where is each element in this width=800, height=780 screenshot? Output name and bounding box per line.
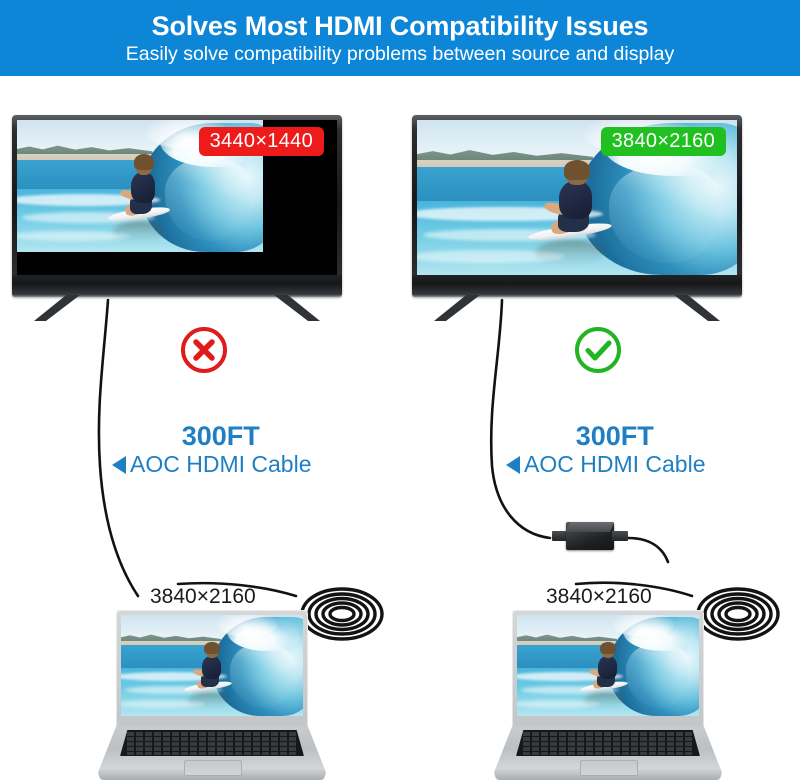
tv-resolution-badge-compatible: 3840×2160 (601, 127, 726, 156)
adapter-plug-output (612, 531, 628, 541)
laptop-surf-image (121, 615, 303, 716)
header-banner: Solves Most HDMI Compatibility Issues Ea… (0, 0, 800, 76)
comparison-panel-with-adapter: 3840×2160 300FT AOC HDMI Cable (400, 76, 800, 780)
cable-callout-right: 300FT AOC HDMI Cable (506, 422, 705, 478)
cable-path-adapter-out (628, 538, 668, 562)
cable-name-label: AOC HDMI Cable (130, 451, 311, 477)
tv-chin-bar (12, 275, 342, 297)
laptop-resolution-caption: 3840×2160 (150, 585, 256, 609)
surfer-figure (590, 642, 626, 698)
triangle-left-icon (112, 456, 126, 474)
cable-length-label: 300FT (506, 422, 705, 450)
laptop-keyboard (120, 730, 304, 756)
tv-leg-right (274, 295, 320, 321)
laptop-source-left (98, 610, 326, 780)
surfer-figure (120, 154, 167, 228)
surfer-figure (545, 160, 609, 248)
laptop-trackpad (580, 760, 638, 776)
cross-circle-icon (178, 324, 230, 376)
cable-name-row: AOC HDMI Cable (112, 451, 311, 477)
status-check-circle (572, 324, 624, 376)
tv-leg-right (674, 295, 720, 321)
laptop-lid (512, 610, 704, 728)
tv-with-adapter: 3840×2160 (412, 115, 742, 305)
status-cross-circle (178, 324, 230, 376)
cable-path-tv-right (491, 300, 550, 538)
tv-leg-left (34, 295, 80, 321)
hdmi-edid-adapter (552, 520, 628, 554)
laptop-source-right (494, 610, 722, 780)
laptop-resolution-caption: 3840×2160 (546, 585, 652, 609)
cable-name-label: AOC HDMI Cable (524, 451, 705, 477)
tv-resolution-badge-incompatible: 3440×1440 (199, 127, 324, 156)
laptop-keyboard (516, 730, 700, 756)
banner-title: Solves Most HDMI Compatibility Issues (152, 12, 649, 40)
comparison-stage: 3440×1440 300FT AOC HDMI Cable (0, 76, 800, 780)
cable-name-row: AOC HDMI Cable (506, 451, 705, 477)
laptop-screen (517, 615, 699, 716)
triangle-left-icon (506, 456, 520, 474)
laptop-lid (116, 610, 308, 728)
laptop-surf-image (517, 615, 699, 716)
tv-without-adapter: 3440×1440 (12, 115, 342, 305)
surfer-figure (194, 642, 230, 698)
tv-chin-bar (412, 275, 742, 297)
laptop-trackpad (184, 760, 242, 776)
tv-leg-left (434, 295, 480, 321)
banner-subtitle: Easily solve compatibility problems betw… (126, 43, 674, 65)
cable-callout-left: 300FT AOC HDMI Cable (112, 422, 311, 478)
cable-length-label: 300FT (112, 422, 311, 450)
adapter-top-face (566, 522, 614, 532)
comparison-panel-without-adapter: 3440×1440 300FT AOC HDMI Cable (0, 76, 400, 780)
check-circle-icon (572, 324, 624, 376)
laptop-screen (121, 615, 303, 716)
